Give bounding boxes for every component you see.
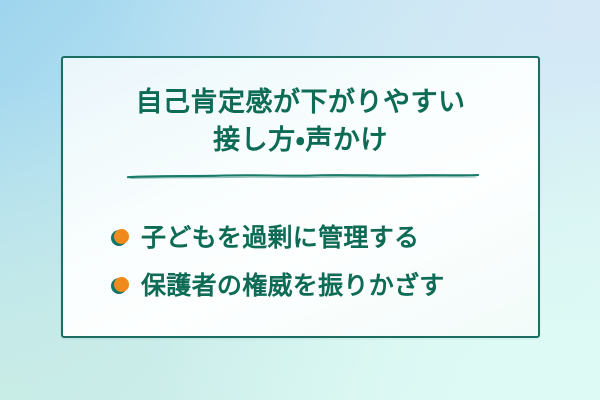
content-card: 自己肯定感が下がりやすい 接し方・声かけ 子どもを過剰に管理する — [61, 56, 540, 338]
list-item-label: 子どもを過剰に管理する — [141, 223, 419, 253]
title-line-1: 自己肯定感が下がりやすい — [63, 84, 538, 122]
list-item: 子どもを過剰に管理する — [111, 214, 520, 262]
bullet-fill-shape — [114, 229, 129, 244]
bullet-dot-icon — [111, 277, 129, 295]
title-block: 自己肯定感が下がりやすい 接し方・声かけ — [63, 84, 538, 160]
bullet-dot-icon — [111, 229, 129, 247]
list-item-label: 保護者の権威を振りかざす — [141, 271, 445, 301]
title-divider — [127, 172, 479, 180]
list-item: 保護者の権威を振りかざす — [111, 262, 520, 310]
poster-canvas: 自己肯定感が下がりやすい 接し方・声かけ 子どもを過剰に管理する — [0, 0, 600, 400]
bullet-fill-shape — [114, 277, 129, 292]
title-line-2: 接し方・声かけ — [63, 122, 538, 160]
bullet-list: 子どもを過剰に管理する 保護者の権威を振りかざす — [111, 214, 520, 310]
